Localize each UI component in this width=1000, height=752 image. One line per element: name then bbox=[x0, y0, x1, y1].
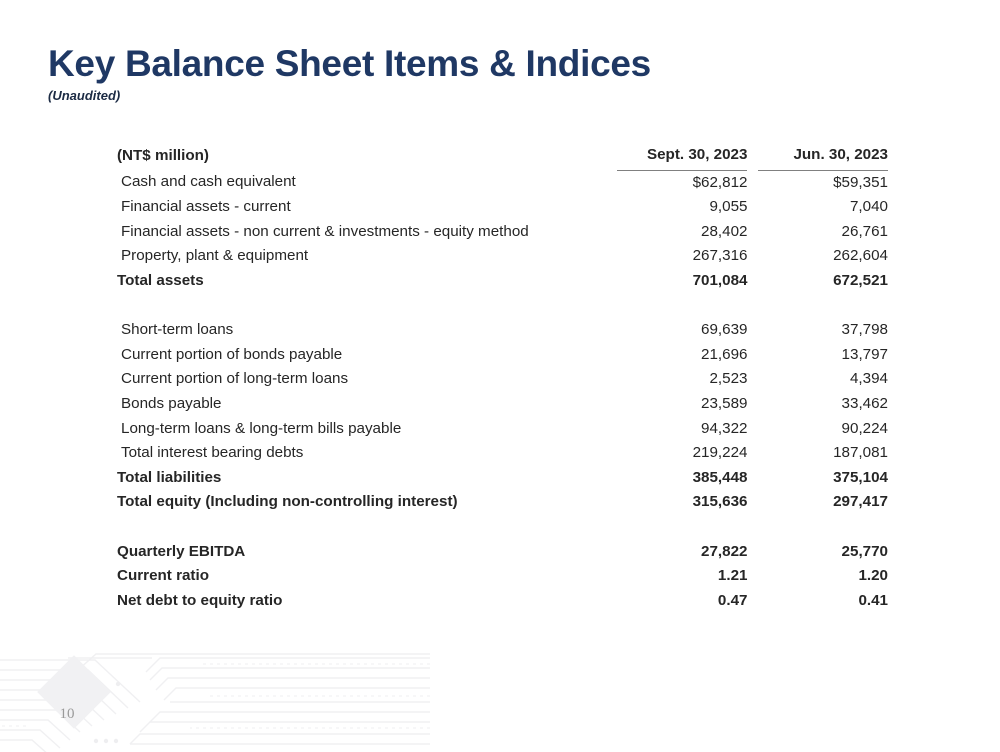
row-value-col2: 262,604 bbox=[758, 244, 888, 269]
row-column-gap bbox=[747, 564, 758, 589]
row-label: Net debt to equity ratio bbox=[117, 589, 617, 614]
row-column-gap bbox=[747, 269, 758, 294]
row-value-col2: 4,394 bbox=[758, 367, 888, 392]
row-label: Bonds payable bbox=[117, 392, 617, 417]
row-value-col1: 23,589 bbox=[617, 392, 747, 417]
row-column-gap bbox=[747, 220, 758, 245]
row-label: Financial assets - non current & investm… bbox=[117, 220, 617, 245]
table-row: Bonds payable23,58933,462 bbox=[117, 392, 888, 417]
row-value-col1: 385,448 bbox=[617, 466, 747, 491]
row-column-gap bbox=[747, 318, 758, 343]
table-row: Quarterly EBITDA27,82225,770 bbox=[117, 540, 888, 565]
table-row: Current ratio1.211.20 bbox=[117, 564, 888, 589]
row-value-col2: 0.41 bbox=[758, 589, 888, 614]
unit-label: (NT$ million) bbox=[117, 143, 617, 170]
table-header-row: (NT$ million) Sept. 30, 2023 Jun. 30, 20… bbox=[117, 143, 888, 170]
row-value-col2: 13,797 bbox=[758, 343, 888, 368]
row-value-col1: 27,822 bbox=[617, 540, 747, 565]
row-value-col2: 7,040 bbox=[758, 195, 888, 220]
row-column-gap bbox=[747, 195, 758, 220]
table-row: Total interest bearing debts219,224187,0… bbox=[117, 441, 888, 466]
row-label: Current ratio bbox=[117, 564, 617, 589]
row-value-col1: 21,696 bbox=[617, 343, 747, 368]
table-row: Property, plant & equipment267,316262,60… bbox=[117, 244, 888, 269]
row-value-col1: 94,322 bbox=[617, 417, 747, 442]
row-value-col2: 375,104 bbox=[758, 466, 888, 491]
table-row: Financial assets - current9,0557,040 bbox=[117, 195, 888, 220]
table-row: Current portion of bonds payable21,69613… bbox=[117, 343, 888, 368]
row-value-col1: 9,055 bbox=[617, 195, 747, 220]
row-value-col2: 25,770 bbox=[758, 540, 888, 565]
row-column-gap bbox=[747, 367, 758, 392]
row-value-col2: 37,798 bbox=[758, 318, 888, 343]
row-label: Cash and cash equivalent bbox=[117, 170, 617, 195]
table-row: Total assets701,084672,521 bbox=[117, 269, 888, 294]
row-label: Current portion of long-term loans bbox=[117, 367, 617, 392]
row-value-col2: 297,417 bbox=[758, 490, 888, 515]
table-row: Total liabilities385,448375,104 bbox=[117, 466, 888, 491]
table-row: Total equity (Including non-controlling … bbox=[117, 490, 888, 515]
row-value-col2: 90,224 bbox=[758, 417, 888, 442]
row-column-gap bbox=[747, 540, 758, 565]
table-row: Financial assets - non current & investm… bbox=[117, 220, 888, 245]
row-column-gap bbox=[747, 589, 758, 614]
row-value-col2: 187,081 bbox=[758, 441, 888, 466]
row-value-col1: 315,636 bbox=[617, 490, 747, 515]
column-header-2: Jun. 30, 2023 bbox=[758, 143, 888, 170]
table-row: Short-term loans69,63937,798 bbox=[117, 318, 888, 343]
column-header-1: Sept. 30, 2023 bbox=[617, 143, 747, 170]
row-column-gap bbox=[747, 244, 758, 269]
row-value-col2: $59,351 bbox=[758, 170, 888, 195]
table-spacer-row bbox=[117, 515, 888, 540]
row-column-gap bbox=[747, 392, 758, 417]
row-value-col1: 267,316 bbox=[617, 244, 747, 269]
row-column-gap bbox=[747, 170, 758, 195]
row-label: Total interest bearing debts bbox=[117, 441, 617, 466]
row-column-gap bbox=[747, 490, 758, 515]
row-value-col1: $62,812 bbox=[617, 170, 747, 195]
row-value-col2: 26,761 bbox=[758, 220, 888, 245]
row-column-gap bbox=[747, 343, 758, 368]
page-subtitle: (Unaudited) bbox=[48, 88, 908, 104]
row-value-col2: 1.20 bbox=[758, 564, 888, 589]
row-value-col2: 672,521 bbox=[758, 269, 888, 294]
row-value-col1: 1.21 bbox=[617, 564, 747, 589]
row-label: Long-term loans & long-term bills payabl… bbox=[117, 417, 617, 442]
page-title: Key Balance Sheet Items & Indices bbox=[48, 42, 908, 86]
table-spacer-row bbox=[117, 294, 888, 319]
row-label: Property, plant & equipment bbox=[117, 244, 617, 269]
row-column-gap bbox=[747, 417, 758, 442]
row-label: Quarterly EBITDA bbox=[117, 540, 617, 565]
row-value-col1: 0.47 bbox=[617, 589, 747, 614]
row-column-gap bbox=[747, 441, 758, 466]
table-row: Current portion of long-term loans2,5234… bbox=[117, 367, 888, 392]
table-row: Cash and cash equivalent$62,812$59,351 bbox=[117, 170, 888, 195]
row-value-col1: 2,523 bbox=[617, 367, 747, 392]
row-label: Financial assets - current bbox=[117, 195, 617, 220]
row-label: Short-term loans bbox=[117, 318, 617, 343]
balance-sheet-table: (NT$ million) Sept. 30, 2023 Jun. 30, 20… bbox=[117, 143, 888, 613]
row-value-col1: 28,402 bbox=[617, 220, 747, 245]
row-value-col2: 33,462 bbox=[758, 392, 888, 417]
table-row: Net debt to equity ratio0.470.41 bbox=[117, 589, 888, 614]
row-label: Total liabilities bbox=[117, 466, 617, 491]
row-value-col1: 219,224 bbox=[617, 441, 747, 466]
table-row: Long-term loans & long-term bills payabl… bbox=[117, 417, 888, 442]
row-label: Total assets bbox=[117, 269, 617, 294]
row-value-col1: 69,639 bbox=[617, 318, 747, 343]
row-column-gap bbox=[747, 466, 758, 491]
slide-canvas: Key Balance Sheet Items & Indices (Unaud… bbox=[0, 0, 1000, 752]
row-label: Current portion of bonds payable bbox=[117, 343, 617, 368]
title-block: Key Balance Sheet Items & Indices (Unaud… bbox=[48, 42, 908, 104]
page-number: 10 bbox=[41, 688, 93, 740]
row-value-col1: 701,084 bbox=[617, 269, 747, 294]
header-column-gap bbox=[747, 143, 758, 170]
table-body: (NT$ million) Sept. 30, 2023 Jun. 30, 20… bbox=[117, 143, 888, 613]
row-label: Total equity (Including non-controlling … bbox=[117, 490, 617, 515]
